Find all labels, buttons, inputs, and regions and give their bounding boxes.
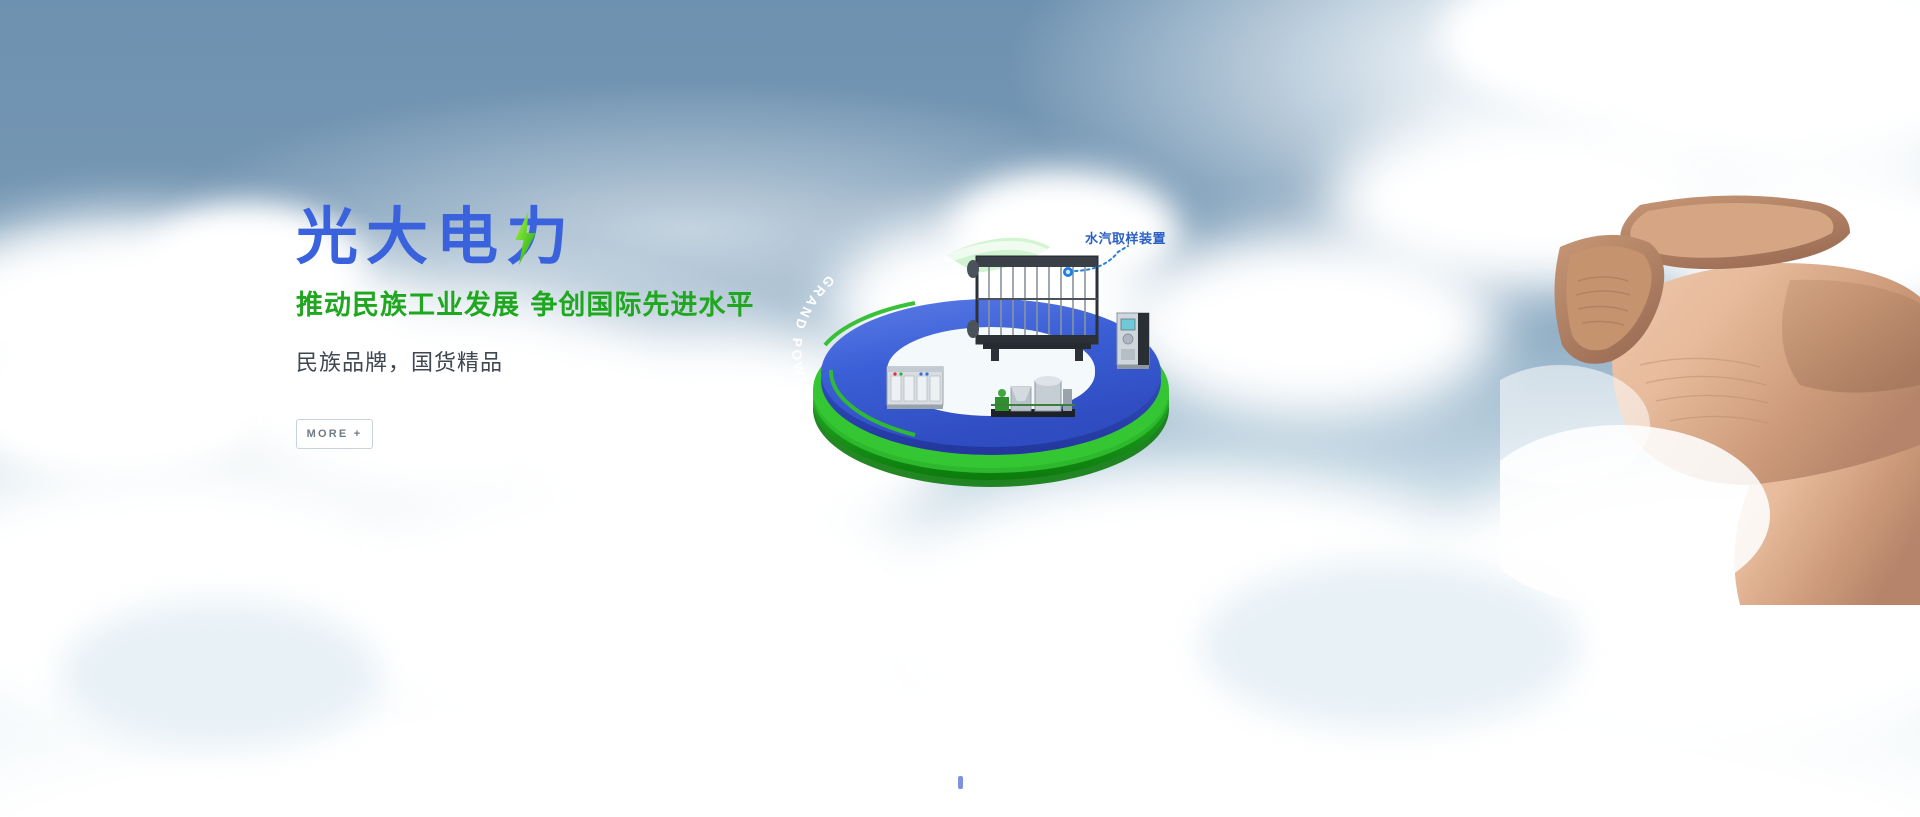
banner-subheadline: 推动民族工业发展 争创国际先进水平 bbox=[296, 290, 936, 322]
vapor-streak bbox=[945, 238, 1050, 273]
analyzer-cabinet bbox=[1117, 313, 1149, 369]
carousel-indicators[interactable] bbox=[0, 776, 1920, 789]
banner-copy: 光大电力 推动民族工业发展 争创国际先进水平 民族品牌，国货精品 MORE + bbox=[296, 206, 936, 449]
lightning-bolt-icon bbox=[511, 211, 539, 265]
hand-reaching-icon bbox=[1500, 185, 1920, 605]
callout-label: 水汽取样装置 bbox=[1085, 228, 1166, 247]
hero-banner: 光大电力 推动民族工业发展 争创国际先进水平 民族品牌，国货精品 MORE + bbox=[0, 0, 1920, 817]
more-button[interactable]: MORE + bbox=[296, 419, 373, 449]
page-title: 光大电力 bbox=[296, 206, 576, 268]
banner-tagline: 民族品牌，国货精品 bbox=[296, 345, 936, 377]
carousel-dot[interactable] bbox=[958, 776, 963, 789]
